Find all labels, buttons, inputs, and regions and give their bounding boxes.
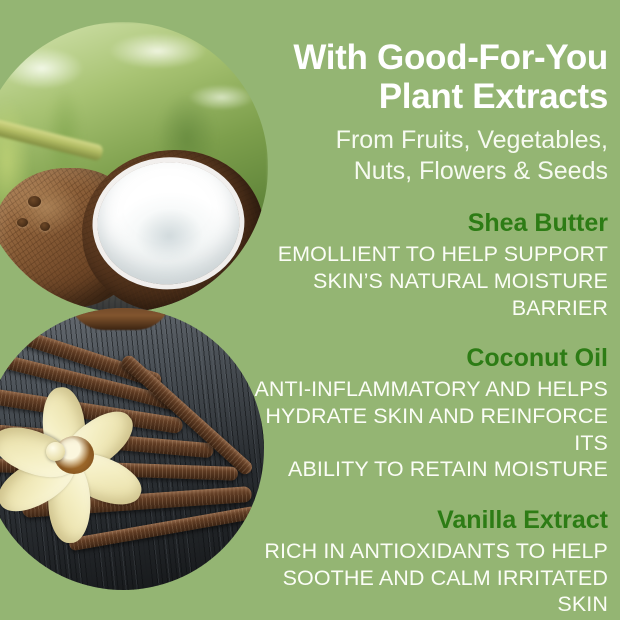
ingredient-shea-butter: Shea Butter EMOLLIENT TO HELP SUPPORT SK… [226,208,608,321]
ingredient-description: EMOLLIENT TO HELP SUPPORT SKIN’S NATURAL… [226,241,608,321]
ingredient-title: Coconut Oil [226,343,608,373]
coconut-eye [17,218,28,227]
ingredient-coconut-oil: Coconut Oil ANTI-INFLAMMATORY AND HELPS … [226,343,608,483]
subtitle-line-2: Nuts, Flowers & Seeds [354,157,608,185]
page-title: With Good-For-You Plant Extracts [226,38,608,116]
vanilla-orchid-flower [10,394,170,544]
headline-line-1: With Good-For-You [293,38,608,77]
infographic-canvas: With Good-For-You Plant Extracts From Fr… [0,0,620,620]
page-subtitle: From Fruits, Vegetables, Nuts, Flowers &… [226,125,608,186]
ingredient-description: ANTI-INFLAMMATORY AND HELPS HYDRATE SKIN… [226,376,608,483]
coconut-flesh [93,157,243,289]
description-line-2: SOOTHE AND CALM IRRITATED SKIN [283,566,608,617]
description-line-3: ABILITY TO RETAIN MOISTURE [288,457,608,481]
description-line-1: EMOLLIENT TO HELP SUPPORT [278,242,608,266]
ingredient-title: Shea Butter [226,208,608,238]
text-column: With Good-For-You Plant Extracts From Fr… [226,0,608,620]
coconut-eye [28,196,41,207]
description-line-2: SKIN’S NATURAL MOISTURE BARRIER [313,269,608,320]
ingredient-title: Vanilla Extract [226,505,608,535]
flower-bud [46,442,65,461]
subtitle-line-1: From Fruits, Vegetables, [336,126,608,154]
ingredient-description: RICH IN ANTIOXIDANTS TO HELP SOOTHE AND … [226,538,608,618]
vanilla-photo [0,308,264,590]
ingredient-vanilla-extract: Vanilla Extract RICH IN ANTIOXIDANTS TO … [226,505,608,618]
headline-line-2: Plant Extracts [379,77,608,116]
coconut-eye [40,222,50,231]
description-line-1: RICH IN ANTIOXIDANTS TO HELP [264,539,608,563]
description-line-1: ANTI-INFLAMMATORY AND HELPS [254,377,608,401]
description-line-2: HYDRATE SKIN AND REINFORCE ITS [265,404,608,455]
